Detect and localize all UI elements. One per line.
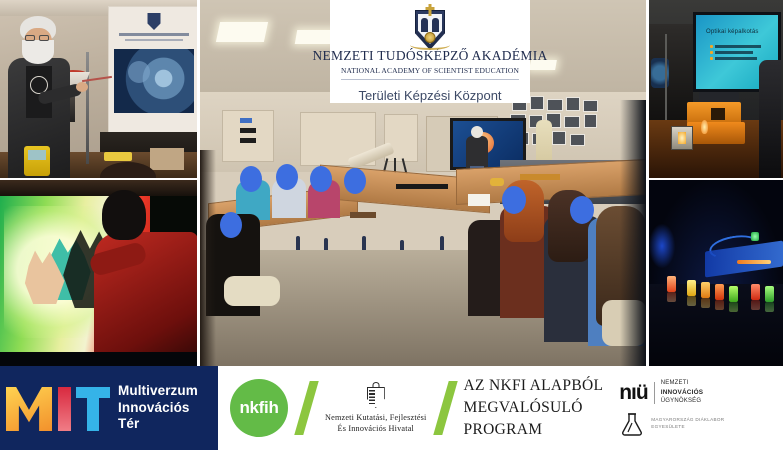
wall-photo [583,100,598,112]
crest-cross-icon [429,4,432,16]
face-blur-dot [220,212,242,238]
assoc-name: MAGYARORSZÁG DIÁKLABOR EGYESÜLETE [651,417,724,431]
academy-crest-icon [408,4,452,47]
mit-name-line3: Tér [118,416,198,432]
crest-wreath [410,40,450,50]
erlenmeyer-flask-icon [619,411,645,437]
fluorescent-vial [667,276,676,292]
orange-equipment-lower [687,122,745,144]
fluorescent-vial [701,282,710,298]
academy-rollup-banner [108,6,197,134]
mit-wordmark-icon [6,383,110,433]
vial-reflection [715,300,724,310]
niu-agency-row: nıü NEMZETI INNOVÁCIÓS ÜGYNÖKSÉG [619,379,724,406]
banner-header [115,11,193,47]
assoc-line1: MAGYARORSZÁG DIÁKLABOR [651,417,724,424]
left-vignette [200,150,216,366]
lecturer-hand [76,82,88,92]
academy-logo-card: NEMZETI TUDÓSKÉPZŐ AKADÉMIA NATIONAL ACA… [330,0,530,103]
academy-title-hu: NEMZETI TUDÓSKÉPZŐ AKADÉMIA [312,48,547,64]
nkfih-office-name: Nemzeti Kutatási, Fejlesztési És Innovác… [325,412,427,434]
niu-line3: ÜGYNÖKSÉG [661,397,703,406]
academy-subtitle: Területi Képzési Központ [358,88,501,103]
yellow-case [104,152,132,161]
face-blur-dot [276,164,298,190]
niu-agency-name: NEMZETI INNOVÁCIÓS ÜGYNÖKSÉG [661,379,703,406]
virus-graphic [114,49,194,113]
equipment-aperture [711,108,725,120]
face-blur-dot [240,166,262,192]
vial-reflection [751,300,760,310]
photo-colored-shadows [0,180,197,366]
niu-wordmark-icon: nıü [619,381,648,405]
photo-collage: Optikai képalkotás [0,0,783,450]
slide-title: Optikai képalkotás [706,29,759,35]
nkfih-logo: nkfih [230,379,288,437]
crest-figure-right [432,18,439,32]
photo-grid: Optikai képalkotás [0,0,783,366]
student-in-red [94,186,197,366]
face-blur-dot [310,166,332,192]
banner-crest-icon [148,13,161,30]
eyeglasses-icon [25,35,51,41]
candle-flame [701,120,708,134]
wall-sign [240,138,256,143]
slide-bullet [710,57,761,60]
niu-logo-block: nıü NEMZETI INNOVÁCIÓS ÜGYNÖKSÉG [619,379,724,437]
mit-name-line2: Innovációs [118,400,198,416]
nkfih-wordmark: nkfih [239,398,278,418]
banner-title-line [119,33,189,36]
mit-letter-i [58,387,71,431]
instructor-head [471,126,483,138]
wall-photo [570,134,585,146]
mit-name: Multiverzum Innovációs Tér [118,383,198,432]
student-trousers [224,276,280,306]
face-blur-dot [502,186,526,214]
wall-photo [564,116,580,128]
yellow-object [490,178,504,186]
ruler-on-table [396,184,448,189]
green-slash-divider-1 [294,381,318,435]
wall-sign [240,118,252,123]
vial-reflection [729,302,738,312]
fluorescent-vial [729,286,738,302]
orange-uv-tube [737,260,771,264]
assoc-line2: EGYESÜLETE [651,424,724,431]
fluorescent-vial [765,286,774,302]
student-head [102,190,146,240]
mit-name-line1: Multiverzum [118,383,198,399]
wall-photo [584,114,597,128]
photo-uv-fluorescence [649,180,783,366]
fluorescent-vial [751,284,760,300]
slide-bullet [710,45,761,48]
screen-toolbar-dots-icon [778,30,783,34]
photo-optics-slide: Optikai képalkotás [649,0,783,178]
crest-figure-left [421,18,428,32]
right-vignette [620,100,646,366]
lecturer-beard [22,40,54,64]
fluorescent-vial [687,280,696,296]
academy-title-en: NATIONAL ACADEMY OF SCIENTIST EDUCATION [341,66,519,80]
niu-line2: INNOVÁCIÓS [661,389,703,396]
program-line3: PROGRAM [464,419,604,441]
wall-photo [530,96,544,110]
hungarian-coat-of-arms-icon [365,382,387,410]
retort-stand [86,52,89,164]
slide-bullet [710,51,761,54]
fluorescent-vial [715,284,724,300]
niu-divider [654,382,655,404]
dark-lower-band [0,352,197,366]
vial-reflection [765,302,774,312]
lamp-glow [678,132,686,144]
mit-letter-t [76,387,110,431]
photo-lecturer-demo [0,0,197,178]
nkfih-office-line2: És Innovációs Hivatal [325,423,427,434]
program-line1: AZ NKFI ALAPBÓL [464,375,604,397]
instructor-torso [466,136,488,168]
wall-photo [547,99,563,111]
holy-crown-icon [372,382,379,388]
vial-reflection [687,296,696,306]
phone-on-table [350,212,376,218]
cardboard-box [150,148,184,170]
blue-light-left [649,224,675,268]
ceiling-light-panel [216,22,268,42]
coat-stripes [369,390,375,404]
nkfih-circle-mark: nkfih [230,379,288,437]
banner-subtitle-line [125,39,183,41]
vial-reflection [701,298,710,308]
program-line2: MEGVALÓSULÓ [464,397,604,419]
mit-t-stem [87,396,99,431]
wall-photo [552,131,566,145]
multimeter-screen [28,150,46,160]
nkfih-office-block: Nemzeti Kutatási, Fejlesztési És Innovác… [325,382,427,434]
mit-letter-m [6,387,52,431]
wall-photo [566,97,580,111]
face-blur-dot [570,196,594,224]
assoc-row: MAGYARORSZÁG DIÁKLABOR EGYESÜLETE [619,411,724,437]
sponsor-footer: Multiverzum Innovációs Tér nkfih Nemz [0,366,783,450]
green-slash-divider-2 [433,381,457,435]
green-glow-vial [751,232,759,241]
wall-sign [240,128,256,133]
person-silhouette [759,60,781,178]
slide-bullets [710,45,761,63]
nkfih-office-line1: Nemzeti Kutatási, Fejlesztési [325,412,427,423]
program-text-block: AZ NKFI ALAPBÓL MEGVALÓSULÓ PROGRAM [464,375,604,441]
sponsor-logo-row: nkfih Nemzeti Kutatási, Fejlesztési És I… [218,366,783,450]
niu-line1: NEMZETI [661,379,703,388]
stand-pole [665,34,667,122]
mit-logo-block: Multiverzum Innovációs Tér [0,366,218,450]
vial-reflection [667,292,676,302]
face-blur-dot [344,168,366,194]
